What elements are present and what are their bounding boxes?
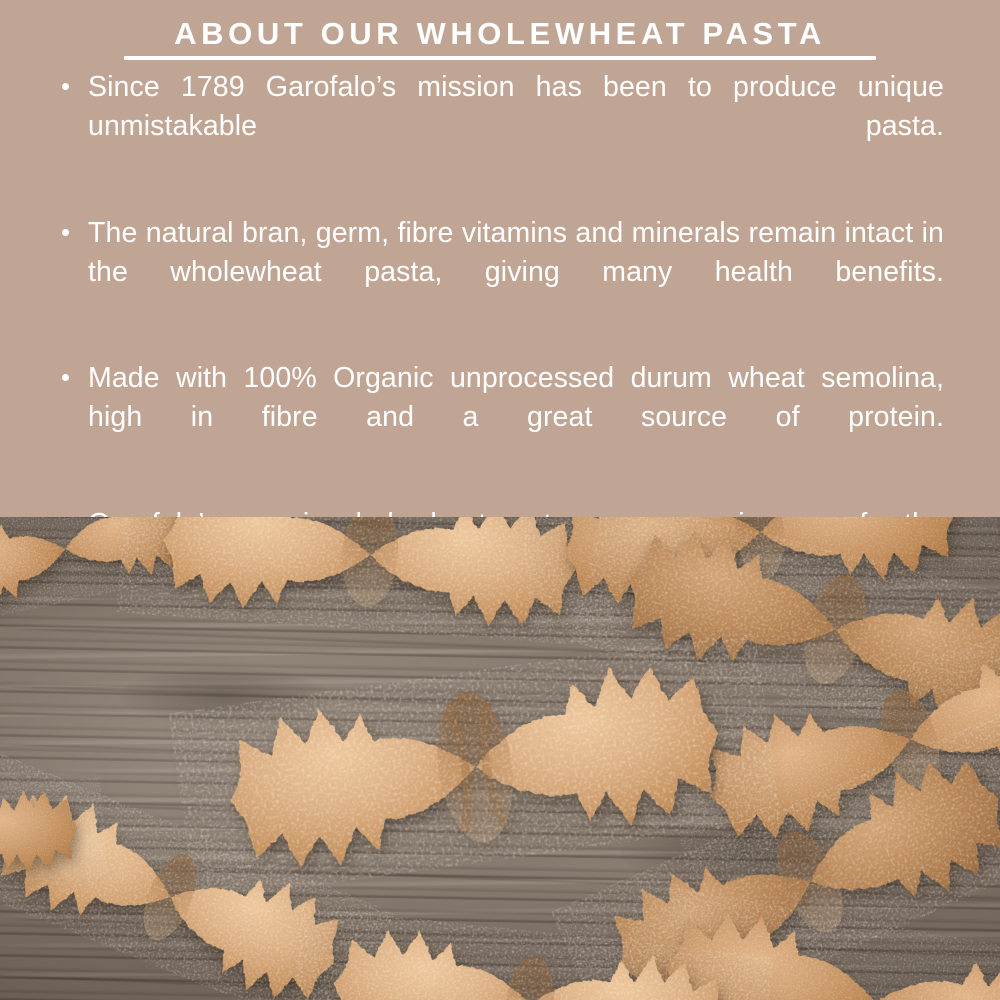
product-description-card: ABOUT OUR WHOLEWHEAT PASTA Since 1789 Ga… [0,0,1000,1000]
list-item-text: The natural bran, germ, fibre vitamins a… [88,214,944,331]
list-item: Since 1789 Garofalo’s mission has been t… [56,68,944,185]
pasta-product-photo [0,517,1000,1000]
list-item: The natural bran, germ, fibre vitamins a… [56,214,944,331]
about-panel: ABOUT OUR WHOLEWHEAT PASTA Since 1789 Ga… [0,0,1000,517]
bullet-dot-icon [62,83,69,90]
heading-underline [124,56,876,60]
bullet-dot-icon [62,229,69,236]
list-item: Made with 100% Organic unprocessed durum… [56,359,944,476]
page-title: ABOUT OUR WHOLEWHEAT PASTA [0,18,1000,51]
bullet-dot-icon [62,374,69,381]
benefits-list: Since 1789 Garofalo’s mission has been t… [56,68,944,517]
farfalle-piece [0,743,86,931]
list-item-text: Made with 100% Organic unprocessed durum… [88,359,944,476]
list-item: Garofalo’s organic wholewheat pastas are… [56,505,944,517]
list-item-text: Since 1789 Garofalo’s mission has been t… [88,68,944,185]
list-item-text: Garofalo’s organic wholewheat pastas are… [88,505,944,517]
